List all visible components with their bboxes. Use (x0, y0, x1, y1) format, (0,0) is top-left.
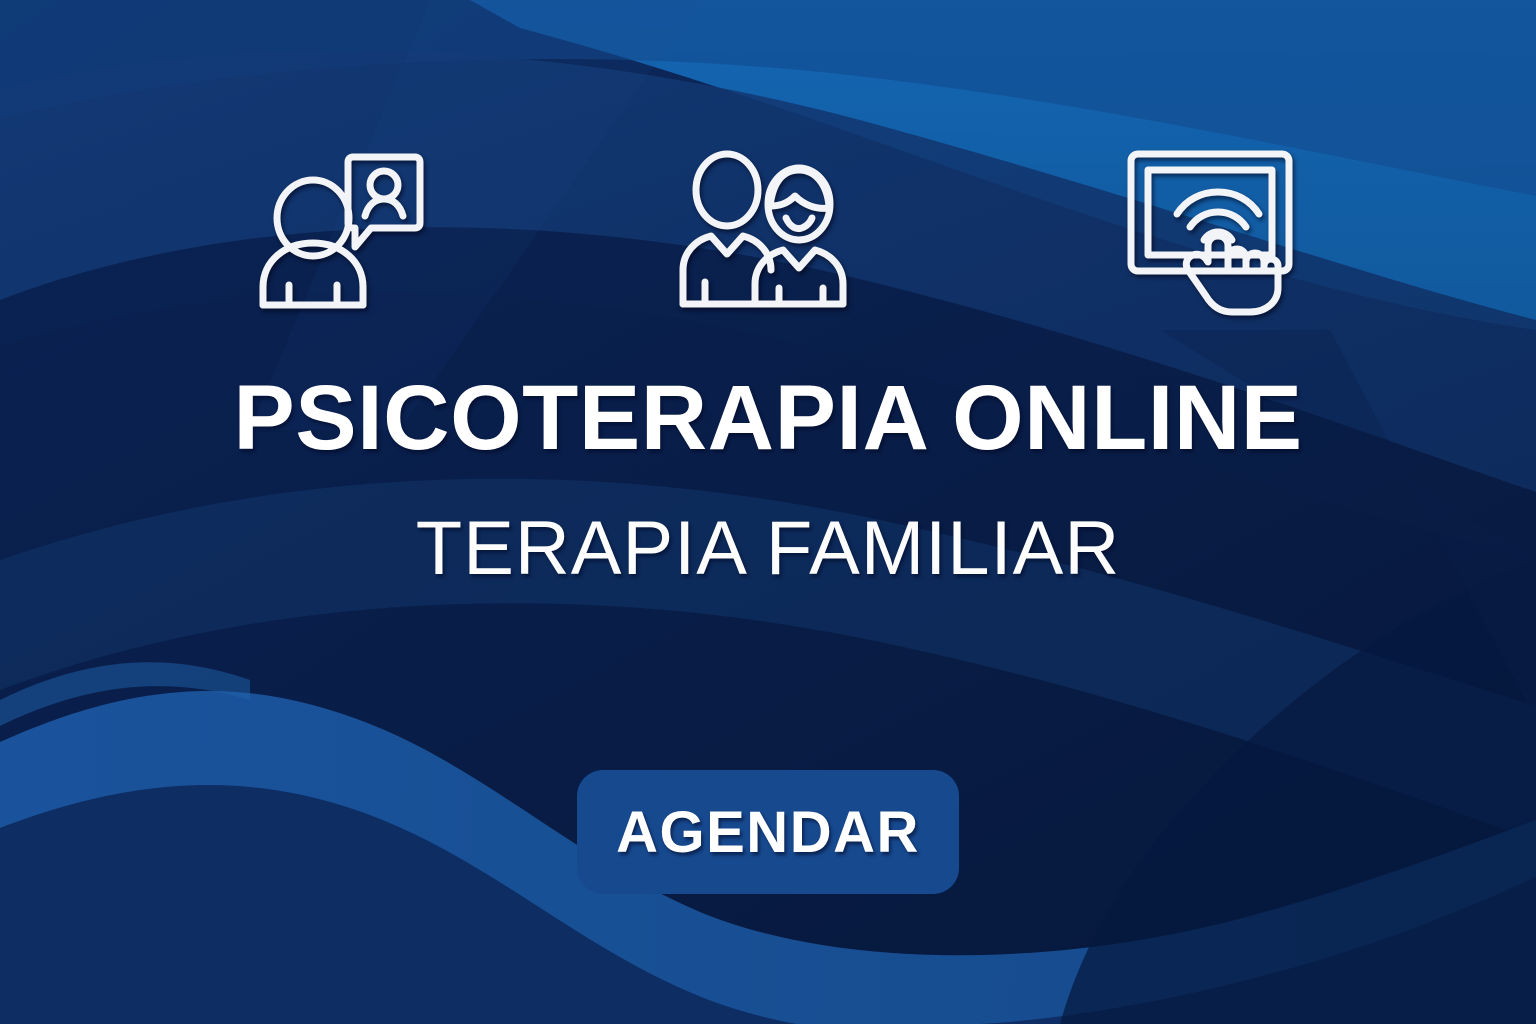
icon-two-people (670, 138, 860, 318)
agendar-button[interactable]: AGENDAR (577, 770, 959, 894)
banner-content: PSICOTERAPIA ONLINE TERAPIA FAMILIAR AGE… (0, 0, 1536, 1024)
icon-touchscreen-wifi (1115, 138, 1305, 318)
icon-person-with-chat-bubble (245, 138, 435, 318)
headline-block: PSICOTERAPIA ONLINE TERAPIA FAMILIAR (0, 370, 1536, 588)
person-with-chat-bubble-icon (255, 147, 425, 309)
page-title: PSICOTERAPIA ONLINE (0, 370, 1536, 467)
cta-container: AGENDAR (0, 770, 1536, 894)
page-subtitle: TERAPIA FAMILIAR (0, 509, 1536, 589)
promo-banner: PSICOTERAPIA ONLINE TERAPIA FAMILIAR AGE… (0, 0, 1536, 1024)
two-people-icon (675, 148, 855, 308)
touchscreen-wifi-icon (1120, 140, 1300, 316)
icon-row (0, 138, 1536, 318)
